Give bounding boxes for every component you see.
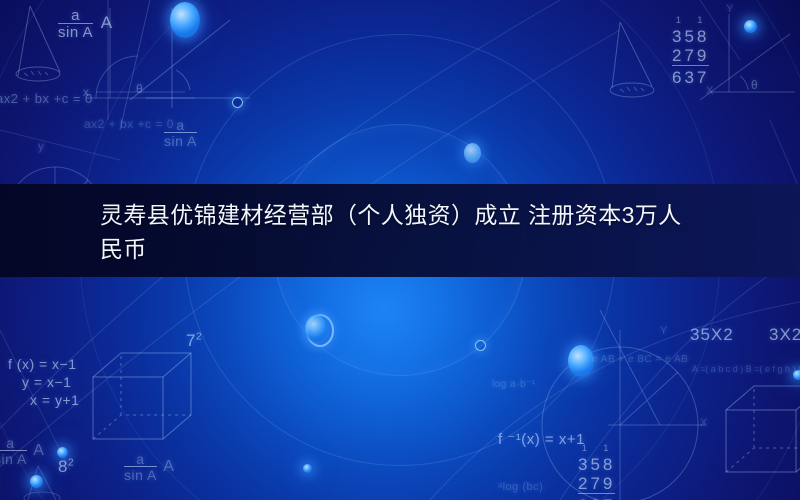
quadratic-mid: ax2 + bx +c = 0	[84, 118, 174, 131]
glow-dot-2	[232, 97, 243, 108]
caption-line-1: 灵寿县优锦建材经营部（个人独资）成立 注册资本3万人	[100, 198, 682, 232]
axis-label-y-bottom: Y	[660, 326, 668, 338]
cone-diagram-top-right	[610, 22, 654, 97]
sum-result: 637	[672, 65, 709, 87]
addition-bottom-right: 1 1 358 279 637	[578, 436, 615, 500]
frac-a-sin-a-bm: asin A A	[124, 452, 174, 482]
expr-35x2: 35X2	[690, 326, 734, 344]
axis-label-y-left: y	[38, 140, 45, 153]
frac-a-sin-a-bl: asin A A	[0, 436, 44, 466]
addition-top-right: 1 1 358 279 637	[672, 8, 709, 87]
axis-label-theta-top: θ	[136, 83, 143, 96]
func-y: y = x−1	[22, 373, 79, 391]
log-expr: ᵃlog (bc)	[498, 482, 543, 494]
func-fx: f (x) = x−1	[8, 355, 79, 373]
circle-graph-bottom	[542, 310, 705, 500]
power-seven: 72	[186, 332, 202, 350]
carry-row: 1 1	[676, 15, 710, 25]
func-x: x = y+1	[30, 391, 79, 409]
glow-dot-1	[170, 2, 200, 38]
function-group-bottom-left: f (x) = x−1 y = x−1 x = y+1	[8, 355, 79, 409]
carry-row-2: 1 1	[582, 443, 616, 453]
glow-dot-9	[568, 345, 594, 377]
caption-line-2: 民币	[100, 232, 682, 266]
addend-2: 279	[672, 46, 709, 65]
caption-headline: 灵寿县优锦建材经营部（个人独资）成立 注册资本3万人 民币	[100, 198, 682, 266]
axis-label-y-top-right: Y	[726, 4, 734, 16]
power-eight: 82	[58, 458, 74, 476]
quadratic-left: ax2 + bx +c = 0	[0, 92, 93, 106]
vector-expr: log a·b⁻¹	[492, 380, 536, 391]
matrix-expr: A =( a b c d ) B =( e f g h ) I =( 1 0 )	[692, 365, 800, 374]
func-inverse: f ⁻¹(x) = x+1	[498, 432, 585, 448]
axis-label-x-bottom: X	[700, 418, 708, 430]
power-seven-exp: 2	[196, 331, 202, 342]
glow-dot-6	[305, 315, 327, 342]
glow-dot-7	[303, 464, 312, 473]
power-eight-exp: 2	[68, 457, 74, 468]
glow-dot-8	[475, 340, 486, 351]
cube-diagram-bottom-left	[93, 353, 191, 439]
axis-label-theta-top-right: θ	[751, 79, 758, 92]
axis-label-x-top: x	[83, 86, 90, 99]
banner-image: asin A A asin A ax2 + bx +c = 0 ax2 + bx…	[0, 0, 800, 500]
expr-3x2: 3X2	[769, 326, 800, 344]
glow-dot-3	[464, 143, 481, 163]
log-expr-2: e AB + e BC = e AB	[592, 355, 688, 366]
caption-band: 灵寿县优锦建材经营部（个人独资）成立 注册资本3万人 民币	[0, 184, 800, 277]
sum-result-b: 637	[578, 493, 615, 500]
cone-diagram-top-left	[16, 6, 60, 81]
addend-1-b: 358	[578, 455, 615, 474]
axis-label-x-top-right: X	[706, 86, 714, 98]
glow-dot-4	[744, 20, 757, 33]
addend-2-b: 279	[578, 474, 615, 493]
addend-1: 358	[672, 27, 709, 46]
cube-diagram-bottom-right	[726, 386, 800, 472]
glow-dot-11	[30, 475, 43, 488]
frac-a-sin-a-tl: asin A A	[58, 8, 113, 40]
